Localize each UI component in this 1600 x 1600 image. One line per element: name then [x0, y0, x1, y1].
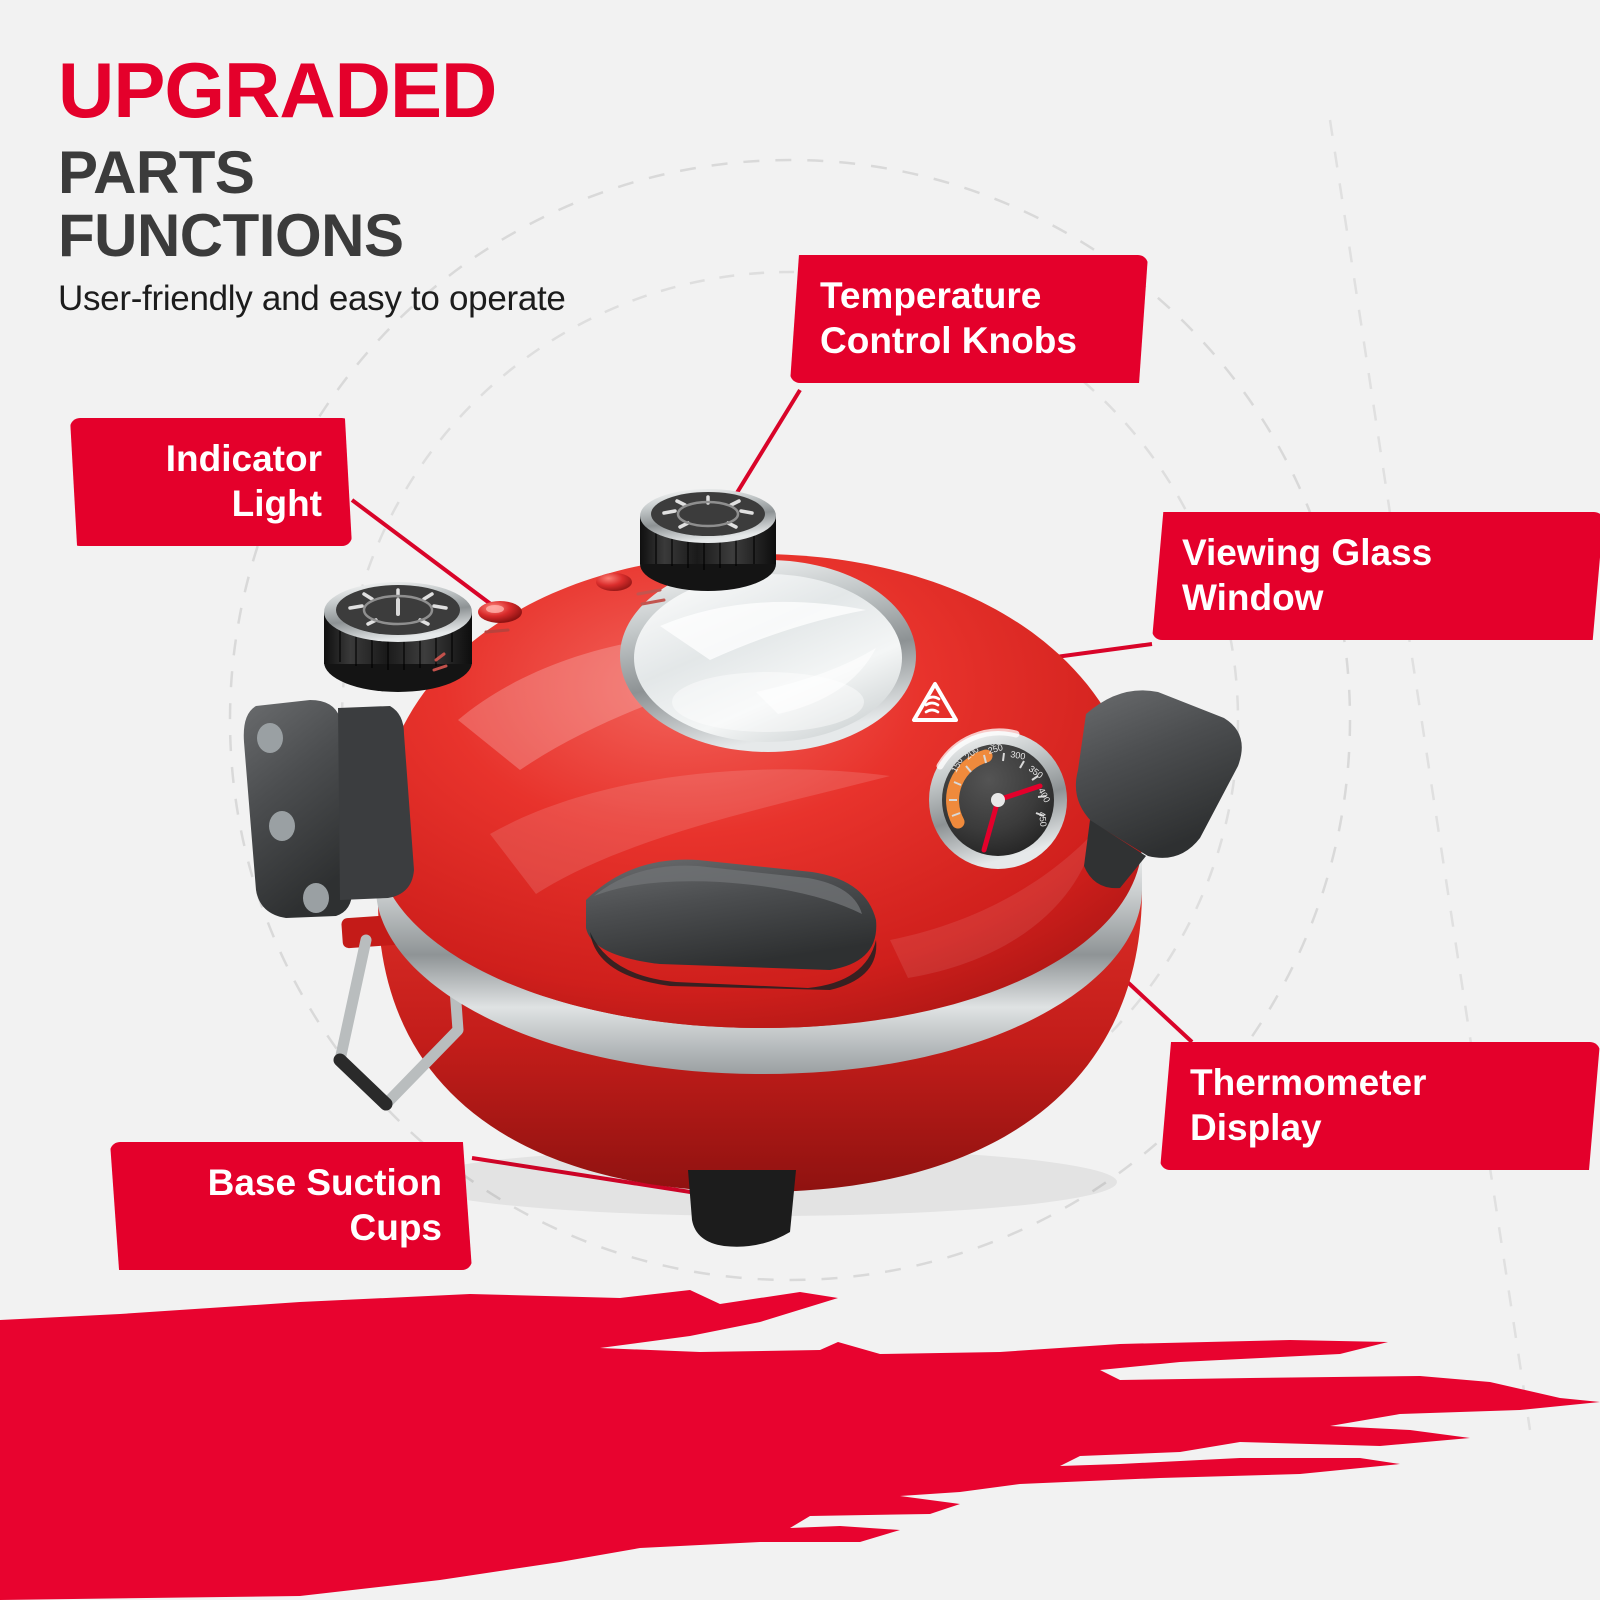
heading-functions: FUNCTIONS	[58, 205, 566, 267]
latch-grip	[340, 1060, 386, 1104]
callout-base-line1: Base Suction	[140, 1160, 442, 1205]
heading-block: UPGRADED PARTS FUNCTIONS User-friendly a…	[58, 52, 566, 319]
heading-parts: PARTS	[58, 142, 566, 204]
base-suction-cup	[688, 1170, 796, 1247]
handle-rivet	[269, 811, 295, 841]
callout-base-line2: Cups	[140, 1205, 442, 1250]
bottom-paint-stroke	[0, 1280, 1600, 1600]
callout-indicator-light[interactable]: Indicator Light	[70, 418, 352, 546]
heading-subtitle: User-friendly and easy to operate	[58, 279, 566, 319]
callout-thermometer-line2: Display	[1190, 1105, 1570, 1150]
side-handle-left[interactable]	[244, 700, 414, 918]
callout-indicator-line2: Light	[100, 481, 322, 526]
product-image-pizza-oven: 150 200 250 300 350 400 450 50 100 500	[190, 470, 1320, 1260]
dashed-diagonal-right	[1330, 120, 1530, 1430]
temperature-knob-left[interactable]	[324, 582, 472, 692]
callout-base-suction-cups[interactable]: Base Suction Cups	[110, 1142, 472, 1270]
callout-temperature-control-knobs[interactable]: Temperature Control Knobs	[790, 255, 1148, 383]
callout-thermometer-display[interactable]: Thermometer Display	[1160, 1042, 1600, 1170]
heading-upgraded: UPGRADED	[58, 52, 566, 128]
handle-rivet	[303, 883, 329, 913]
glass-reflection-bottom	[672, 672, 864, 732]
side-handle-right[interactable]	[1076, 690, 1242, 888]
callout-temperature-line1: Temperature	[820, 273, 1118, 318]
callout-thermometer-line1: Thermometer	[1190, 1060, 1570, 1105]
indicator-light-marking	[486, 630, 508, 632]
infographic-stage: UPGRADED PARTS FUNCTIONS User-friendly a…	[0, 0, 1600, 1600]
thermometer-display: 150 200 250 300 350 400 450 50 100 500	[929, 731, 1067, 869]
thermometer-hub	[991, 793, 1005, 807]
svg-text:450: 450	[1037, 811, 1049, 827]
secondary-light-dome	[596, 573, 632, 591]
viewing-glass-window	[620, 560, 916, 752]
callout-indicator-line1: Indicator	[100, 436, 322, 481]
indicator-light-glint	[486, 605, 504, 613]
callout-temperature-line2: Control Knobs	[820, 318, 1118, 363]
callout-viewing-line1: Viewing Glass	[1182, 530, 1574, 575]
callout-viewing-glass-window[interactable]: Viewing Glass Window	[1152, 512, 1600, 640]
paint-stroke-shape	[0, 1290, 1600, 1600]
handle-rivet	[257, 723, 283, 753]
handle-left-inner	[338, 706, 414, 900]
temperature-knob-right[interactable]	[640, 489, 776, 591]
callout-viewing-line2: Window	[1182, 575, 1574, 620]
